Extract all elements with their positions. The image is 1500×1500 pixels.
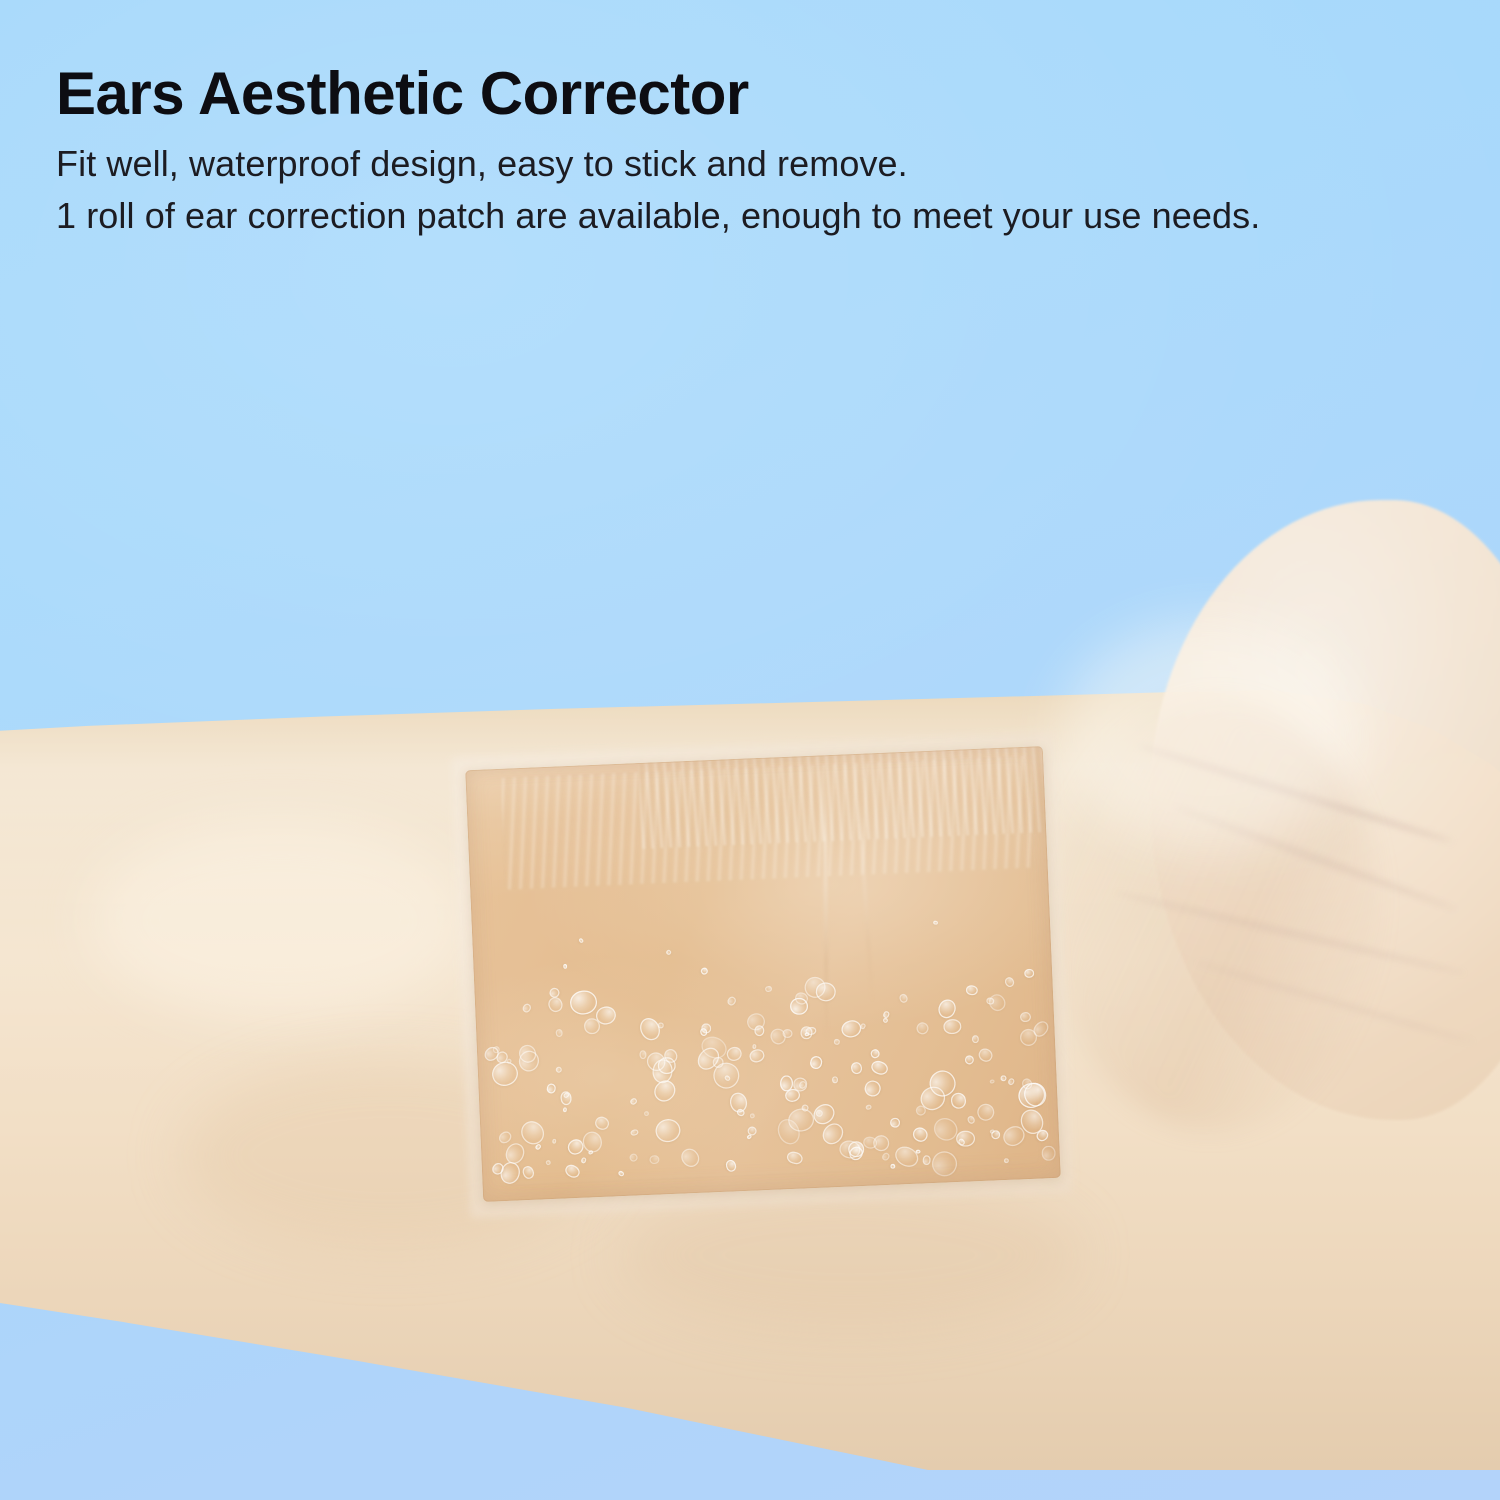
- page-title: Ears Aesthetic Corrector: [56, 62, 1476, 125]
- product-marketing-image: Ears Aesthetic Corrector Fit well, water…: [0, 0, 1500, 1500]
- feature-line-1: Fit well, waterproof design, easy to sti…: [56, 139, 1476, 189]
- feature-line-2: 1 roll of ear correction patch are avail…: [56, 191, 1476, 241]
- marketing-copy: Ears Aesthetic Corrector Fit well, water…: [56, 62, 1476, 240]
